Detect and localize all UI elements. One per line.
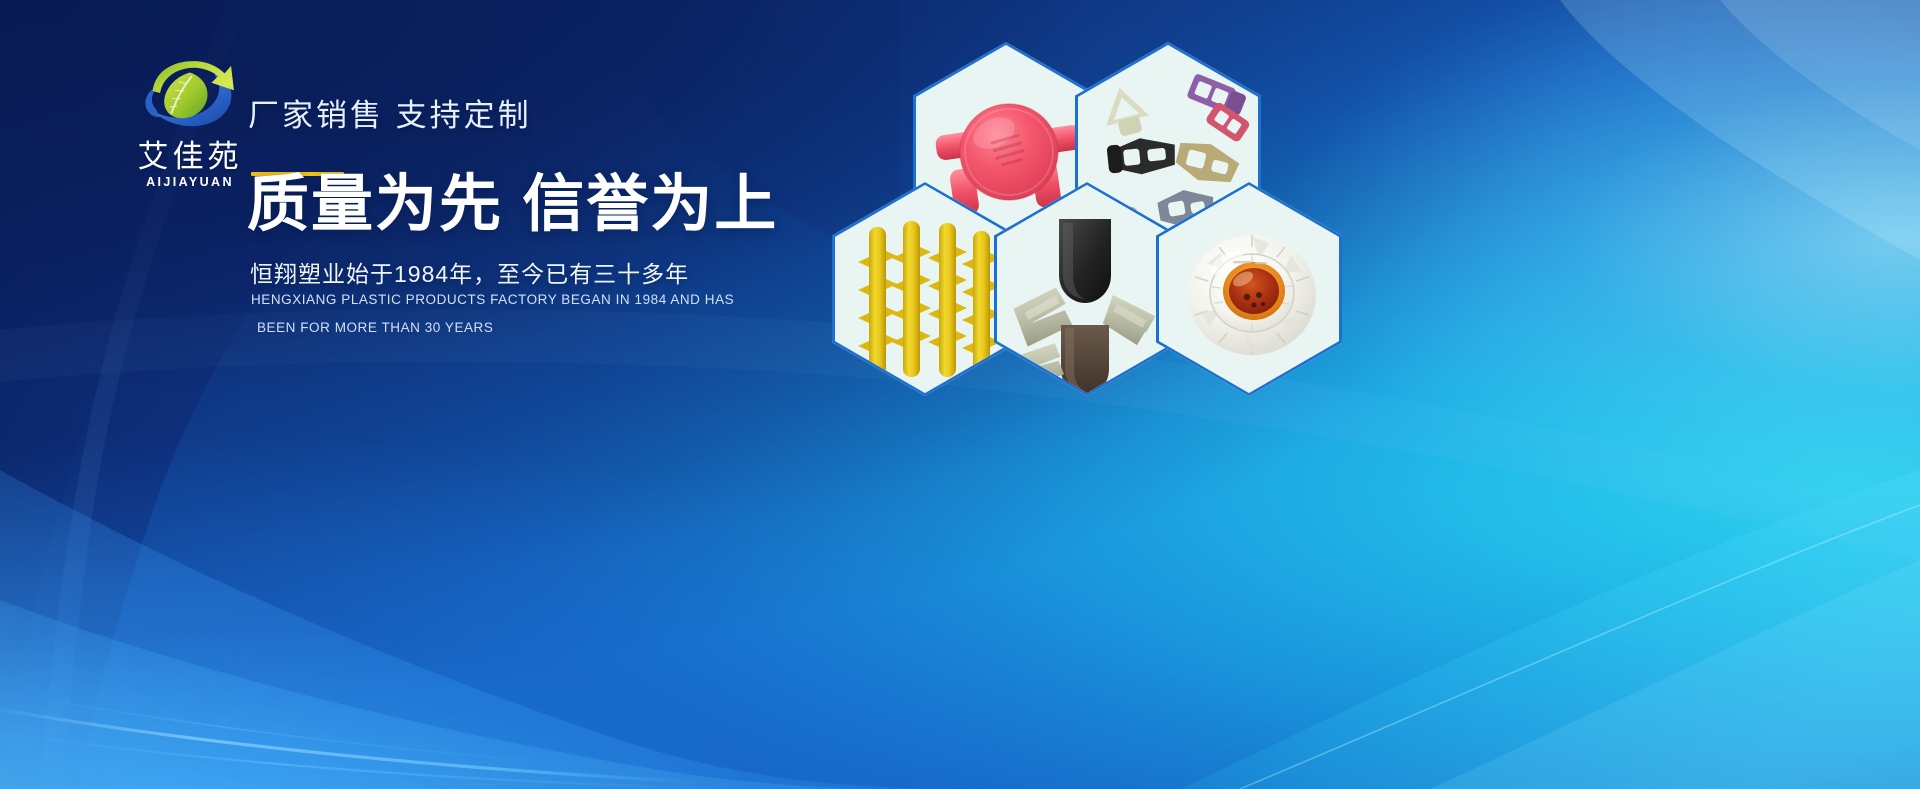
- promo-banner: 艾佳苑 AIJIAYUAN 厂家销售 支持定制 质量为先 信誉为上 恒翔塑业始于…: [0, 0, 1920, 789]
- headline-text: 质量为先 信誉为上: [247, 172, 778, 239]
- english-description: HENGXIANG PLASTIC PRODUCTS FACTORY BEGAN…: [251, 286, 771, 341]
- eyebrow-text: 厂家销售 支持定制: [248, 90, 532, 135]
- english-line-2: BEEN FOR MORE THAN 30 YEARS: [251, 314, 771, 342]
- leaf-arrow-logo-icon: [134, 50, 246, 136]
- subtitle-text: 恒翔塑业始于1984年，至今已有三十多年: [250, 255, 689, 289]
- product-hexagon-cluster: [800, 42, 1320, 382]
- english-line-1: HENGXIANG PLASTIC PRODUCTS FACTORY BEGAN…: [251, 286, 771, 314]
